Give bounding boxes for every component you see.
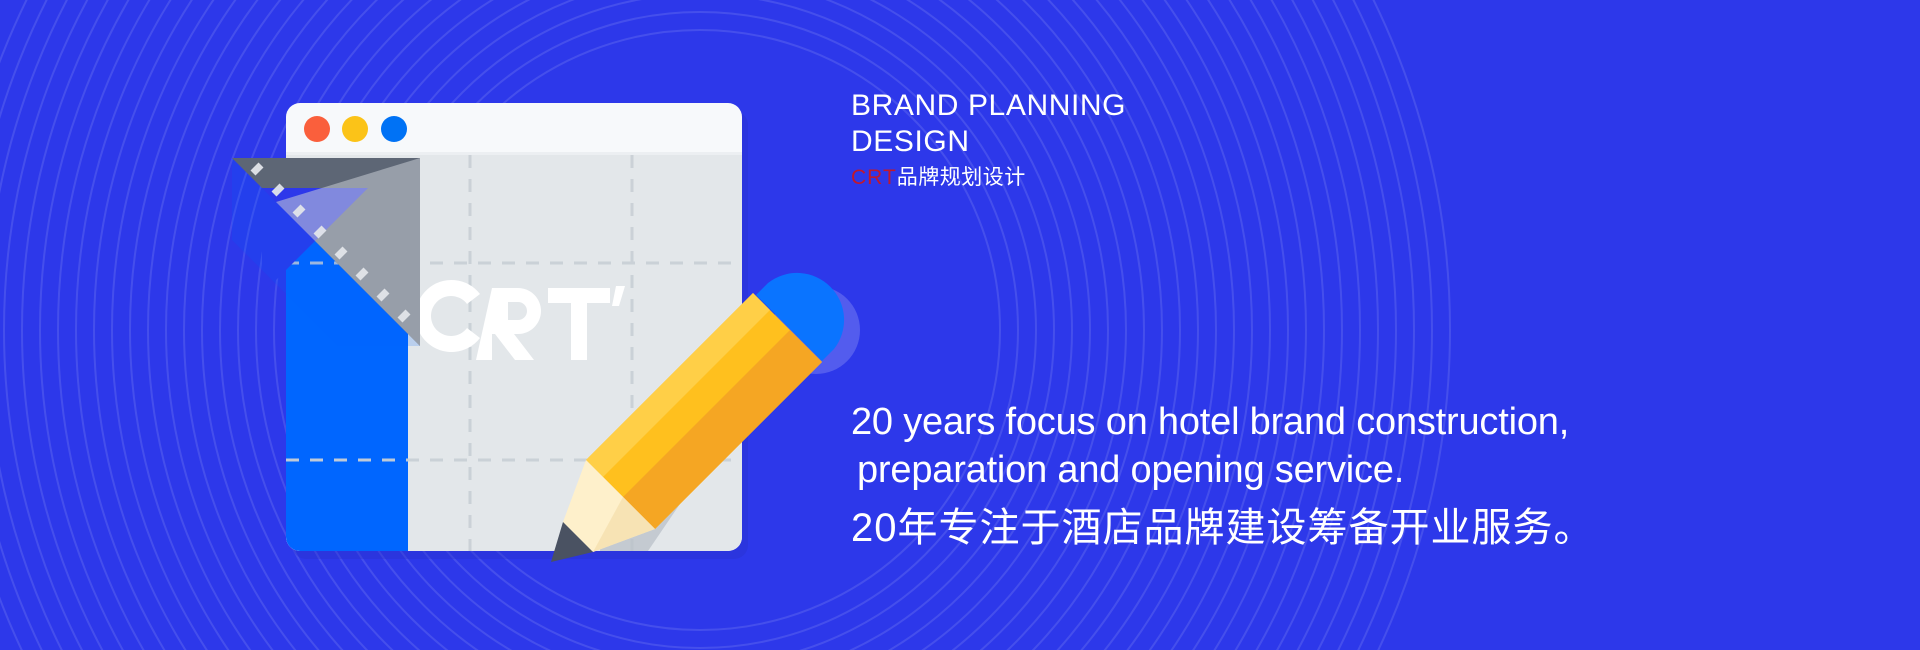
headline-block: 20 years focus on hotel brand constructi… bbox=[851, 398, 1595, 556]
pencil-wood bbox=[563, 460, 655, 552]
browser-window-mockup bbox=[286, 103, 748, 559]
pencil bbox=[551, 273, 860, 562]
crt-logo-mark bbox=[416, 280, 625, 360]
pencil-body-shade bbox=[623, 330, 822, 529]
headline-chinese: 20年专注于酒店品牌建设筹备开业服务。 bbox=[851, 500, 1595, 556]
minimize-dot bbox=[342, 116, 368, 142]
eyebrow-block: BRAND PLANNING DESIGN CRT品牌规划设计 bbox=[851, 88, 1126, 191]
pencil-tip bbox=[551, 522, 593, 562]
pencil-eraser-shadow bbox=[772, 286, 860, 374]
eyebrow-line-2: DESIGN bbox=[851, 124, 1126, 160]
brand-planning-banner: BRAND PLANNING DESIGN CRT品牌规划设计 20 years… bbox=[0, 0, 1920, 650]
pencil-eraser bbox=[756, 273, 844, 361]
blue-panel bbox=[286, 200, 408, 551]
eyebrow-chinese-text: 品牌规划设计 bbox=[897, 166, 1026, 189]
headline-english-line-1: 20 years focus on hotel brand constructi… bbox=[851, 398, 1595, 446]
eyebrow-chinese: CRT品牌规划设计 bbox=[851, 165, 1126, 191]
maximize-dot bbox=[381, 116, 407, 142]
headline-english-line-2: preparation and opening service. bbox=[851, 446, 1595, 494]
text-column: BRAND PLANNING DESIGN CRT品牌规划设计 20 years… bbox=[851, 0, 1851, 650]
pencil-body bbox=[586, 293, 822, 529]
triangle-ruler bbox=[216, 158, 420, 362]
design-grid-guides bbox=[286, 155, 742, 551]
crt-brand-mark: CRT bbox=[851, 166, 897, 189]
eyebrow-line-1: BRAND PLANNING bbox=[851, 88, 1126, 124]
ruler-ticks bbox=[253, 165, 408, 320]
close-dot bbox=[304, 116, 330, 142]
pencil-shadow bbox=[600, 395, 737, 551]
